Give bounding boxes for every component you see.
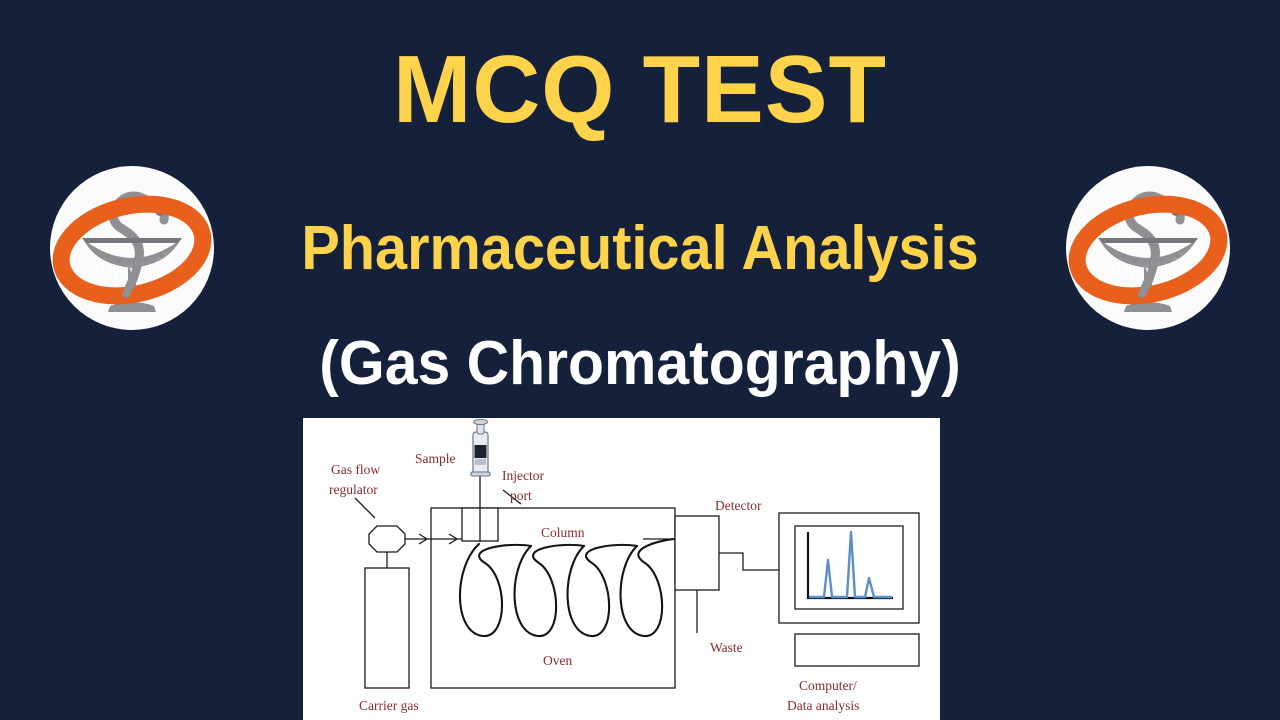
signal-line bbox=[719, 553, 779, 570]
topic-title: (Gas Chromatography) bbox=[32, 333, 1248, 395]
label-oven: Oven bbox=[543, 653, 572, 668]
carrier-gas-cylinder bbox=[365, 568, 409, 688]
label-computer-line1: Computer/ bbox=[799, 678, 857, 693]
gas-chromatograph-diagram: Gas flow regulator Carrier gas Sample In… bbox=[303, 418, 940, 720]
sample-syringe-icon bbox=[471, 419, 490, 476]
label-computer-line2: Data analysis bbox=[787, 698, 859, 713]
regulator-leader-line bbox=[355, 498, 375, 518]
label-column: Column bbox=[541, 525, 585, 540]
label-injector-line1: Injector bbox=[502, 468, 544, 483]
slide-canvas: SUFIPHARM bbox=[0, 0, 1280, 720]
label-detector: Detector bbox=[715, 498, 762, 513]
detector-box bbox=[675, 516, 719, 590]
label-sample: Sample bbox=[415, 451, 456, 466]
page-title: MCQ TEST bbox=[13, 42, 1267, 138]
gas-flow-regulator-valve bbox=[369, 526, 405, 552]
label-gas-flow-regulator-line1: Gas flow bbox=[331, 462, 380, 477]
label-carrier-gas: Carrier gas bbox=[359, 698, 419, 713]
subject-title: Pharmaceutical Analysis bbox=[45, 218, 1235, 280]
label-waste: Waste bbox=[710, 640, 743, 655]
label-injector-line2: port bbox=[510, 488, 532, 503]
label-gas-flow-regulator-line2: regulator bbox=[329, 482, 378, 497]
keyboard-box bbox=[795, 634, 919, 666]
